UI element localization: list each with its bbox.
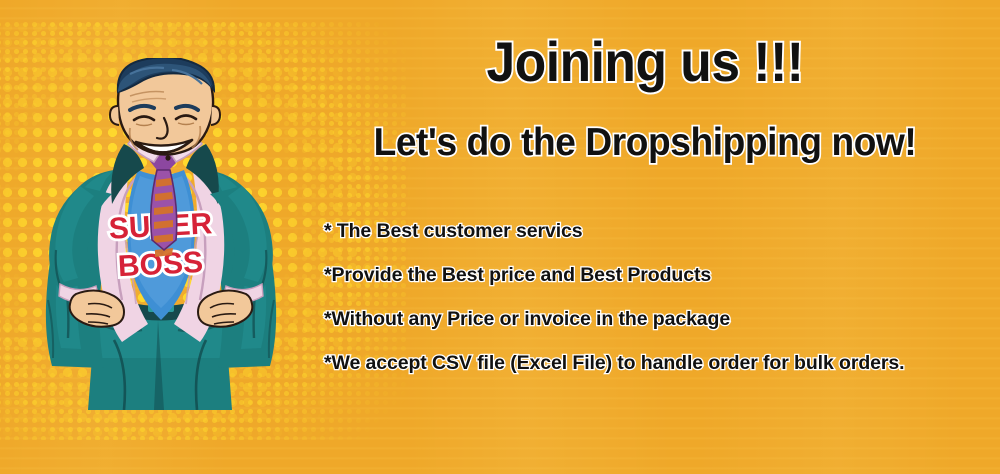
headline: Joining us !!! — [328, 33, 963, 90]
list-item: *Without any Price or invoice in the pac… — [324, 310, 1000, 330]
list-item: *We accept CSV file (Excel File) to hand… — [324, 354, 1000, 374]
subheadline: Let's do the Dropshipping now! — [317, 123, 973, 164]
list-item: * The Best customer servics — [324, 222, 1000, 242]
necktie — [149, 146, 179, 257]
copy-column: Joining us !!! Let's do the Dropshipping… — [300, 0, 1000, 474]
benefits-list: * The Best customer servics *Provide the… — [324, 222, 1000, 374]
promo-banner: SUPER BOSS — [0, 0, 1000, 474]
list-item: *Provide the Best price and Best Product… — [324, 266, 1000, 286]
super-boss-illustration: SUPER BOSS — [18, 58, 308, 410]
